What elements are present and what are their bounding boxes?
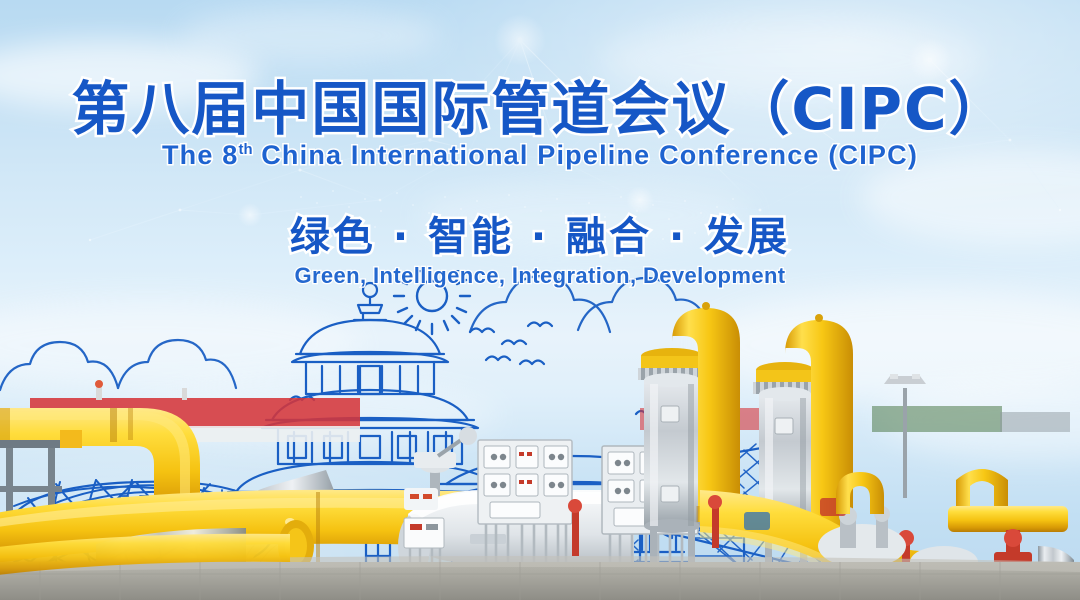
cipc-conference-banner: 第八届中国国际管道会议（CIPC） The 8th China Internat… xyxy=(0,0,1080,600)
separator-vessel-1 xyxy=(638,348,706,584)
page-title-chinese: 第八届中国国际管道会议（CIPC） xyxy=(0,62,1080,146)
pipeline-station-photo xyxy=(0,300,1080,600)
light-pole xyxy=(884,374,926,498)
slogan-chinese: 绿色 · 智能 · 融合 · 发展 xyxy=(0,204,1080,262)
page-title-english: The 8th China International Pipeline Con… xyxy=(0,140,1080,171)
title-en-ordinal-suffix: th xyxy=(239,142,253,158)
yellow-pipe-loop-small xyxy=(836,472,884,514)
slogan-english: Green, Intelligence, Integration, Develo… xyxy=(0,263,1080,289)
title-en-prefix: The 8 xyxy=(162,140,239,170)
title-en-rest: China International Pipeline Conference … xyxy=(253,140,918,170)
